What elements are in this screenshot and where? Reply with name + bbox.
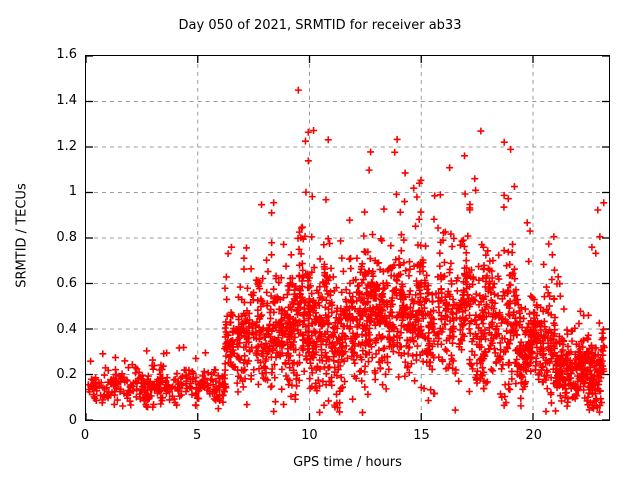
y-tick-label: 0	[17, 413, 77, 428]
plot-area	[85, 55, 610, 421]
y-tick-label: 0.8	[17, 230, 77, 245]
x-tick-label: 5	[177, 428, 217, 443]
x-tick-label: 20	[514, 428, 554, 443]
y-tick-label: 1	[17, 184, 77, 199]
x-tick-label: 0	[65, 428, 105, 443]
y-tick-label: 0.2	[17, 367, 77, 382]
y-tick-label: 1.4	[17, 93, 77, 108]
x-tick-label: 15	[402, 428, 442, 443]
x-tick-label: 10	[289, 428, 329, 443]
scatter-points	[86, 56, 609, 420]
y-tick-label: 0.4	[17, 322, 77, 337]
y-tick-label: 1.2	[17, 139, 77, 154]
y-tick-label: 1.6	[17, 47, 77, 62]
y-tick-label: 0.6	[17, 276, 77, 291]
x-axis-label: GPS time / hours	[85, 455, 610, 470]
chart-page: Day 050 of 2021, SRMTID for receiver ab3…	[0, 0, 640, 480]
chart-title: Day 050 of 2021, SRMTID for receiver ab3…	[0, 18, 640, 33]
